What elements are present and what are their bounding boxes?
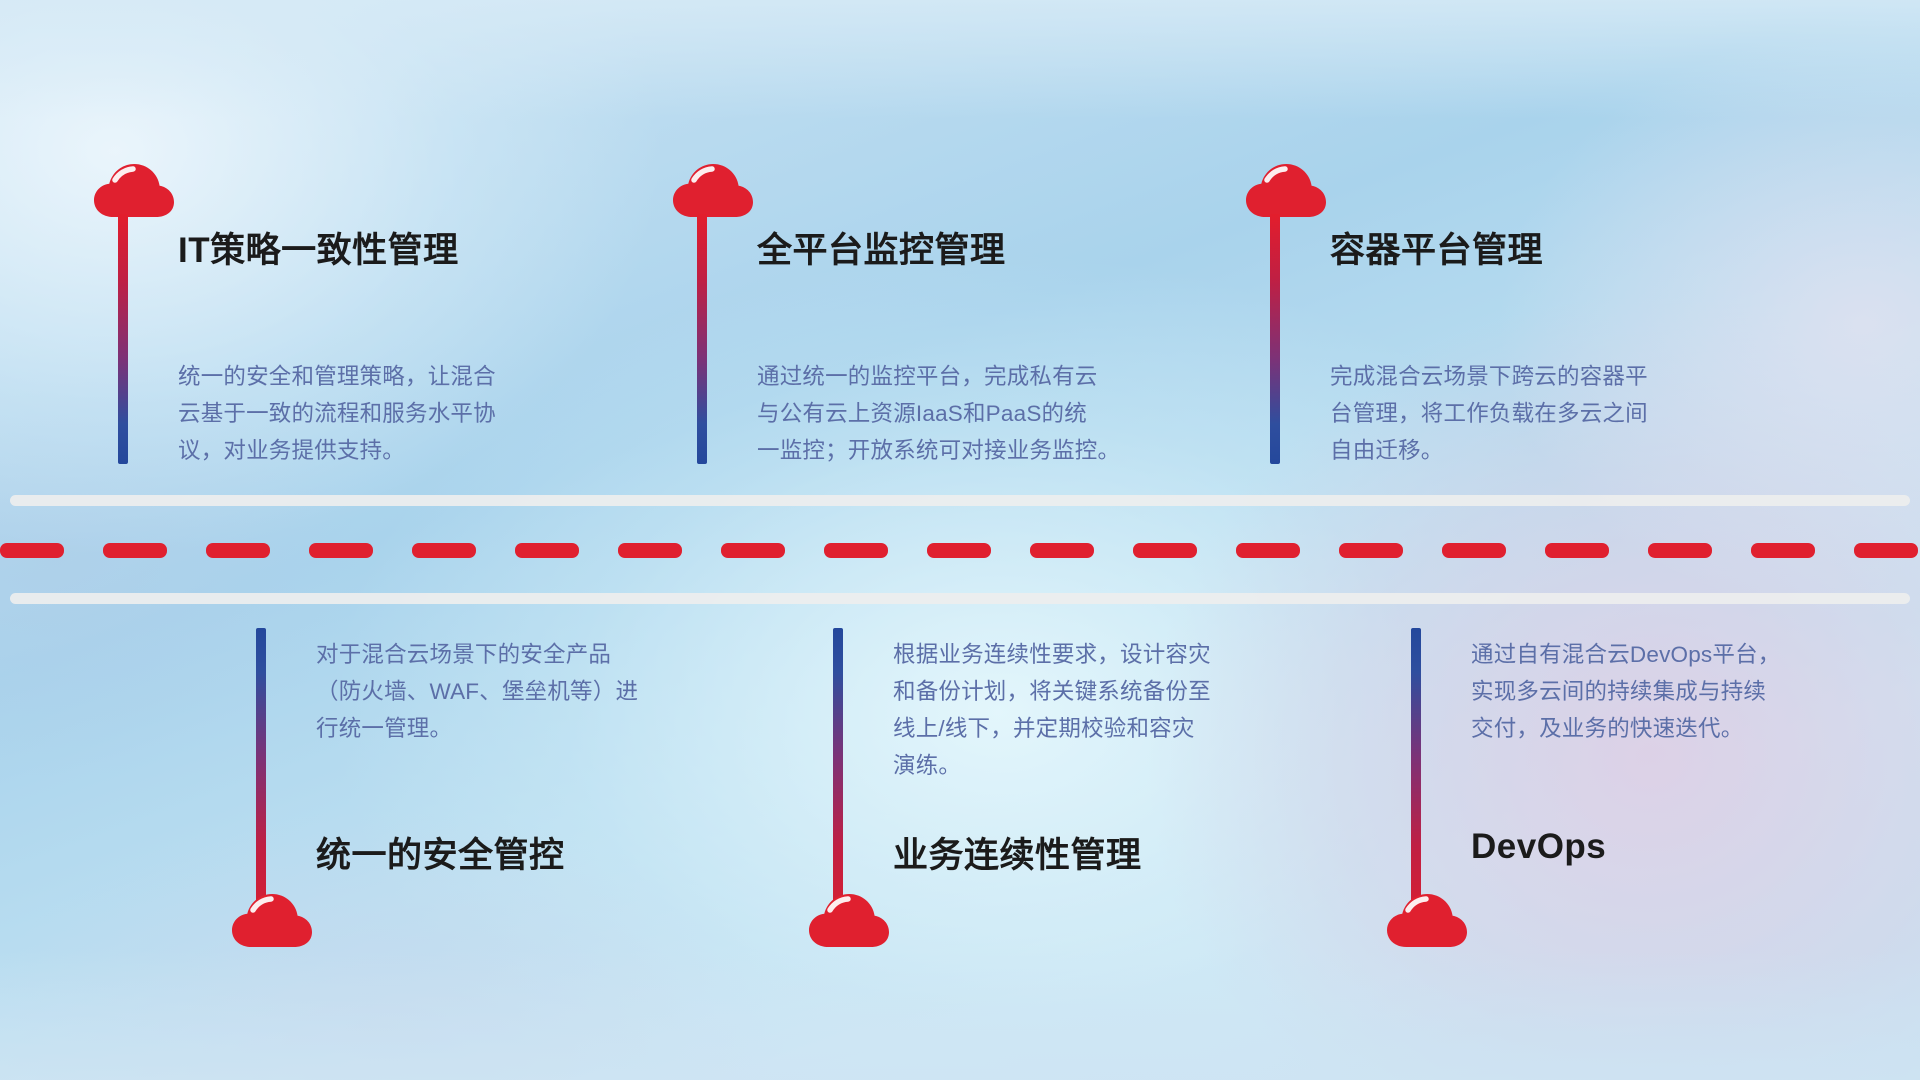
divider-dash	[1854, 543, 1918, 558]
divider-dash	[1442, 543, 1506, 558]
divider-white-top	[10, 495, 1910, 506]
divider-dash	[824, 543, 888, 558]
column-title: 容器平台管理	[1330, 222, 1543, 273]
cloud-icon	[1245, 160, 1327, 218]
divider-dash	[1545, 543, 1609, 558]
body-line: 完成混合云场景下跨云的容器平	[1330, 358, 1648, 395]
body-line: 云基于一致的流程和服务水平协	[178, 395, 496, 432]
divider-dash	[412, 543, 476, 558]
column-title: DevOps	[1471, 827, 1606, 867]
body-line: 与公有云上资源IaaS和PaaS的统	[757, 395, 1120, 432]
stem-line	[1270, 214, 1280, 464]
divider-dash	[103, 543, 167, 558]
cloud-icon	[93, 160, 175, 218]
body-line: 议，对业务提供支持。	[178, 432, 496, 469]
infographic-canvas: IT策略一致性管理 统一的安全和管理策略，让混合 云基于一致的流程和服务水平协 …	[0, 0, 1920, 1080]
cloud-icon	[1386, 890, 1468, 948]
divider-dash	[309, 543, 373, 558]
cloud-icon	[672, 160, 754, 218]
divider-dash	[1236, 543, 1300, 558]
body-line: 台管理，将工作负载在多云之间	[1330, 395, 1648, 432]
body-line: 线上/线下，并定期校验和容灾	[893, 710, 1211, 747]
cloud-icon	[808, 890, 890, 948]
divider-dash	[515, 543, 579, 558]
column-body: 通过统一的监控平台，完成私有云 与公有云上资源IaaS和PaaS的统 一监控；开…	[757, 358, 1120, 469]
body-line: 统一的安全和管理策略，让混合	[178, 358, 496, 395]
body-line: 实现多云间的持续集成与持续	[1471, 673, 1780, 710]
column-title: 业务连续性管理	[893, 827, 1142, 878]
column-body: 对于混合云场景下的安全产品 （防火墙、WAF、堡垒机等）进 行统一管理。	[316, 636, 638, 747]
divider-dash	[1030, 543, 1094, 558]
body-line: 自由迁移。	[1330, 432, 1648, 469]
column-title: 全平台监控管理	[757, 222, 1006, 273]
divider-dash	[1648, 543, 1712, 558]
body-line: （防火墙、WAF、堡垒机等）进	[316, 673, 638, 710]
divider-dash	[1339, 543, 1403, 558]
divider-dash	[0, 543, 64, 558]
column-body: 统一的安全和管理策略，让混合 云基于一致的流程和服务水平协 议，对业务提供支持。	[178, 358, 496, 469]
body-line: 交付，及业务的快速迭代。	[1471, 710, 1780, 747]
body-line: 演练。	[893, 747, 1211, 784]
body-line: 对于混合云场景下的安全产品	[316, 636, 638, 673]
divider-dash	[721, 543, 785, 558]
body-line: 通过自有混合云DevOps平台，	[1471, 636, 1780, 673]
cloud-icon	[231, 890, 313, 948]
divider-white-bottom	[10, 593, 1910, 604]
divider-dash	[618, 543, 682, 558]
column-body: 完成混合云场景下跨云的容器平 台管理，将工作负载在多云之间 自由迁移。	[1330, 358, 1648, 469]
stem-line	[118, 214, 128, 464]
stem-line	[697, 214, 707, 464]
divider-red-dashed	[0, 543, 1920, 558]
stem-line	[1411, 628, 1421, 908]
column-title: 统一的安全管控	[316, 827, 565, 878]
body-line: 行统一管理。	[316, 710, 638, 747]
divider-dash	[1751, 543, 1815, 558]
body-line: 通过统一的监控平台，完成私有云	[757, 358, 1120, 395]
stem-line	[833, 628, 843, 908]
column-title: IT策略一致性管理	[178, 222, 459, 273]
divider-dash	[927, 543, 991, 558]
stem-line	[256, 628, 266, 908]
body-line: 根据业务连续性要求，设计容灾	[893, 636, 1211, 673]
body-line: 一监控；开放系统可对接业务监控。	[757, 432, 1120, 469]
divider-dash	[1133, 543, 1197, 558]
divider-dash	[206, 543, 270, 558]
body-line: 和备份计划，将关键系统备份至	[893, 673, 1211, 710]
column-body: 根据业务连续性要求，设计容灾 和备份计划，将关键系统备份至 线上/线下，并定期校…	[893, 636, 1211, 784]
column-body: 通过自有混合云DevOps平台， 实现多云间的持续集成与持续 交付，及业务的快速…	[1471, 636, 1780, 747]
